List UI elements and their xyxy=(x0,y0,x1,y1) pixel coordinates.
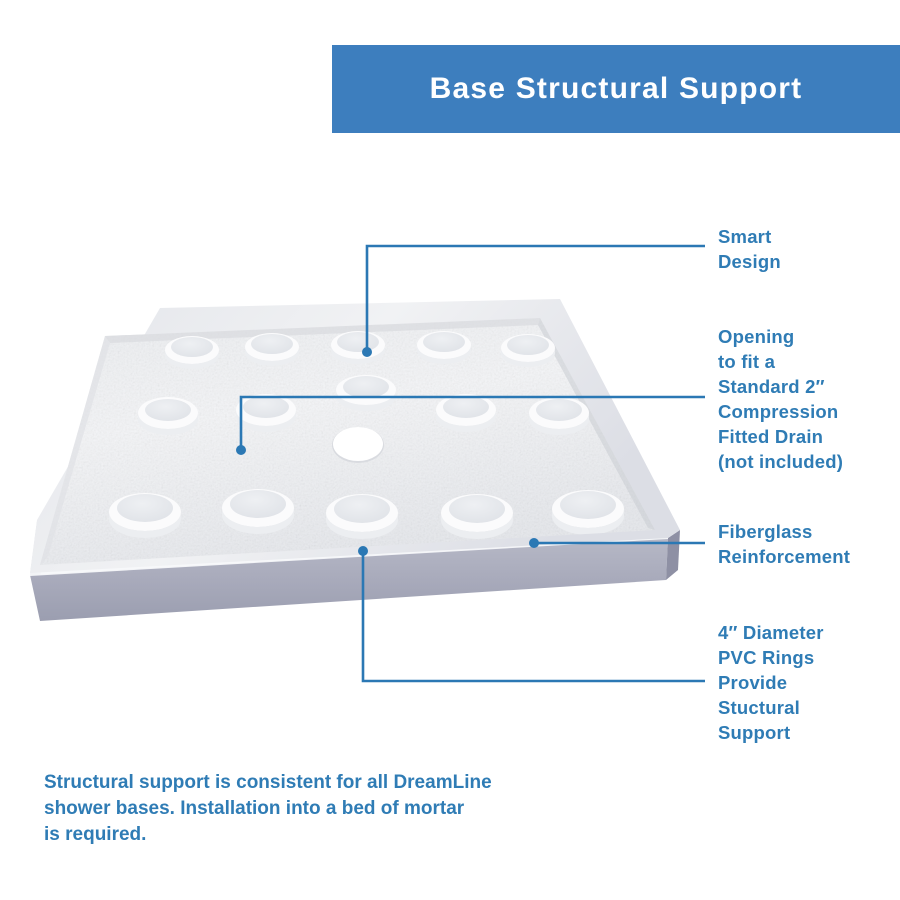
leader-dot-drain-opening xyxy=(236,445,246,455)
callout-label-drain-opening: Opening to fit a Standard 2″ Compression… xyxy=(718,324,843,474)
leader-line-pvc-rings xyxy=(363,551,705,681)
callout-label-pvc-rings: 4″ Diameter PVC Rings Provide Stuctural … xyxy=(718,620,824,745)
callout-label-fiberglass-reinforcement: Fiberglass Reinforcement xyxy=(718,519,850,569)
page-title: Base Structural Support xyxy=(430,72,803,106)
leader-line-drain-opening xyxy=(241,397,705,450)
leader-dot-smart-design xyxy=(362,347,372,357)
poster-canvas: Base Structural Support Smart Design Ope… xyxy=(0,0,900,900)
header-banner: Base Structural Support xyxy=(332,45,900,133)
leader-line-smart-design xyxy=(367,246,705,352)
leader-dot-fiberglass xyxy=(529,538,539,548)
callout-label-smart-design: Smart Design xyxy=(718,224,781,274)
leader-dot-pvc-rings xyxy=(358,546,368,556)
footer-caption: Structural support is consistent for all… xyxy=(44,770,644,848)
